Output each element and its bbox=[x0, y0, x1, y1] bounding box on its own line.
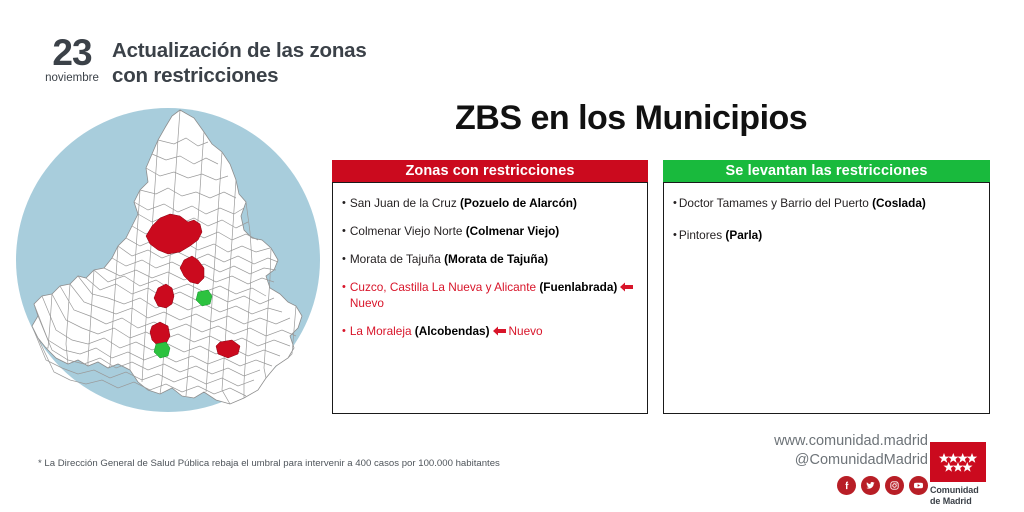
panel-lifted: Se levantan las restricciones •Doctor Ta… bbox=[663, 160, 990, 414]
new-arrow-icon bbox=[493, 325, 506, 340]
zone-text: Cuzco, Castilla La Nueva y Alicante (Fue… bbox=[350, 280, 637, 311]
new-label: Nuevo bbox=[509, 324, 543, 338]
zone-list-item: •San Juan de la Cruz (Pozuelo de Alarcón… bbox=[342, 196, 637, 211]
panel-lifted-body: •Doctor Tamames y Barrio del Puerto (Cos… bbox=[663, 182, 990, 414]
social-handle[interactable]: @ComunidadMadrid bbox=[774, 451, 928, 470]
footnote: * La Dirección General de Salud Pública … bbox=[38, 458, 500, 469]
header-title-line2: con restricciones bbox=[112, 63, 367, 88]
zone-text: Colmenar Viejo Norte (Colmenar Viejo) bbox=[350, 224, 637, 239]
zone-text: La Moraleja (Alcobendas)Nuevo bbox=[350, 324, 637, 340]
zone-text: San Juan de la Cruz (Pozuelo de Alarcón) bbox=[350, 196, 637, 211]
new-arrow-icon bbox=[620, 281, 633, 296]
header-month: noviembre bbox=[34, 71, 110, 85]
zone-list-item: •Morata de Tajuña (Morata de Tajuña) bbox=[342, 252, 637, 267]
panel-restricted-heading: Zonas con restricciones bbox=[332, 160, 648, 182]
footer-links: www.comunidad.madrid @ComunidadMadrid bbox=[774, 432, 928, 470]
seven-stars-icon bbox=[930, 442, 986, 482]
panel-lifted-heading: Se levantan las restricciones bbox=[663, 160, 990, 182]
bullet-icon: • bbox=[342, 224, 350, 239]
zone-list-item: •Pintores (Parla) bbox=[673, 228, 979, 243]
map-container bbox=[8, 98, 328, 418]
twitter-icon[interactable] bbox=[861, 476, 880, 495]
facebook-icon[interactable] bbox=[837, 476, 856, 495]
header-title-line1: Actualización de las zonas bbox=[112, 38, 367, 63]
header-date: 23 noviembre bbox=[34, 36, 110, 85]
madrid-map-svg bbox=[8, 98, 328, 418]
new-label: Nuevo bbox=[350, 296, 384, 310]
bullet-icon: • bbox=[342, 280, 350, 311]
youtube-icon[interactable] bbox=[909, 476, 928, 495]
zone-list-item: •Doctor Tamames y Barrio del Puerto (Cos… bbox=[673, 196, 979, 211]
logo-text-line2: de Madrid bbox=[930, 496, 1000, 507]
logo-text: Comunidad de Madrid bbox=[930, 485, 1000, 506]
header-title: Actualización de las zonas con restricci… bbox=[112, 38, 367, 88]
zone-list-item: •Cuzco, Castilla La Nueva y Alicante (Fu… bbox=[342, 280, 637, 311]
zone-list-item: •La Moraleja (Alcobendas)Nuevo bbox=[342, 324, 637, 340]
website-link[interactable]: www.comunidad.madrid bbox=[774, 432, 928, 451]
panel-restricted: Zonas con restricciones •San Juan de la … bbox=[332, 160, 648, 414]
panel-restricted-body: •San Juan de la Cruz (Pozuelo de Alarcón… bbox=[332, 182, 648, 414]
instagram-icon[interactable] bbox=[885, 476, 904, 495]
header-day: 23 bbox=[34, 36, 110, 70]
zone-text: Doctor Tamames y Barrio del Puerto (Cosl… bbox=[679, 196, 979, 211]
bullet-icon: • bbox=[342, 196, 350, 211]
page-title: ZBS en los Municipios bbox=[455, 99, 807, 138]
bullet-icon: • bbox=[342, 252, 350, 267]
restricted-zone-list: •San Juan de la Cruz (Pozuelo de Alarcón… bbox=[342, 196, 637, 340]
social-icons bbox=[837, 476, 928, 495]
bullet-icon: • bbox=[342, 324, 350, 340]
zone-text: Pintores (Parla) bbox=[679, 228, 979, 243]
lifted-zone-list: •Doctor Tamames y Barrio del Puerto (Cos… bbox=[673, 196, 979, 243]
zone-text: Morata de Tajuña (Morata de Tajuña) bbox=[350, 252, 637, 267]
logo-red-square bbox=[930, 442, 986, 482]
comunidad-de-madrid-logo: Comunidad de Madrid bbox=[930, 442, 1000, 506]
logo-text-line1: Comunidad bbox=[930, 485, 1000, 496]
zone-list-item: •Colmenar Viejo Norte (Colmenar Viejo) bbox=[342, 224, 637, 239]
infographic-root: 23 noviembre Actualización de las zonas … bbox=[0, 0, 1024, 512]
